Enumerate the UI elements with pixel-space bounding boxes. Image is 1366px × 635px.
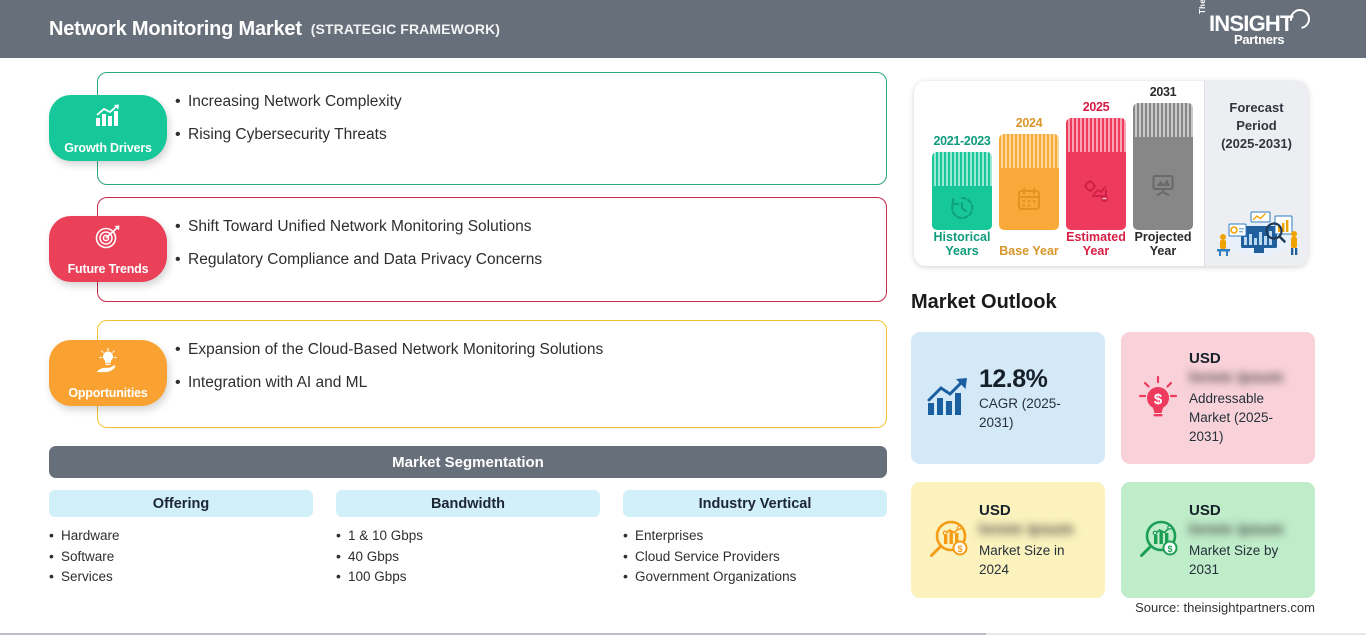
panel-opportunities: Expansion of the Cloud-Based Network Mon… xyxy=(97,320,887,428)
badge-growth-drivers: Growth Drivers xyxy=(49,95,167,161)
card-label: Addressable Market (2025-2031) xyxy=(1189,389,1305,446)
timeline-year-label: 2031 xyxy=(1131,85,1195,99)
timeline-bar xyxy=(999,134,1059,230)
timeline-caption: Historical Years xyxy=(924,230,1000,258)
badge-future-trends: Future Trends xyxy=(49,216,167,282)
outlook-card-market-size-2024: $ USD lorem ipsum Market Size in 2024 xyxy=(911,482,1105,598)
timeline-caption: Estimated Year xyxy=(1058,230,1134,258)
insight-partners-logo: The INSIGHT Partners xyxy=(1198,9,1308,51)
list-item: 1 & 10 Gbps xyxy=(336,526,600,547)
source-attribution: Source: theinsightpartners.com xyxy=(1135,600,1315,615)
segment-column-industry-vertical: Industry Vertical Enterprises Cloud Serv… xyxy=(623,490,887,588)
market-outlook-title: Market Outlook xyxy=(911,291,1057,314)
forecast-chart-icon xyxy=(1081,176,1111,206)
segment-column-offering: Offering Hardware Software Services xyxy=(49,490,313,588)
timeline-item-projected: 2031 Projected Ye xyxy=(1131,90,1195,258)
badge-label: Growth Drivers xyxy=(64,141,152,155)
infographic-page: Network Monitoring Market (STRATEGIC FRA… xyxy=(0,0,1366,635)
page-header: Network Monitoring Market (STRATEGIC FRA… xyxy=(0,0,1366,58)
outlook-card-cagr: 12.8% CAGR (2025-2031) xyxy=(911,332,1105,464)
bar-chart-arrow-icon xyxy=(921,376,975,420)
magnifier-chart-icon: $ xyxy=(1131,517,1185,563)
redacted-value: lorem ipsum xyxy=(1189,521,1305,538)
panel-growth-drivers: Increasing Network Complexity Rising Cyb… xyxy=(97,72,887,185)
market-timeline-chart: 2021-2023 Historical Years xyxy=(914,81,1308,266)
timeline-caption: Projected Year xyxy=(1125,230,1201,258)
bar-stripe-top xyxy=(932,152,992,186)
bullet-list-opportunities: Expansion of the Cloud-Based Network Mon… xyxy=(98,321,886,392)
timeline-bar xyxy=(1133,103,1193,230)
redacted-value: lorem ipsum xyxy=(1189,369,1305,386)
list-item: Services xyxy=(49,567,313,588)
bar-solid-body xyxy=(999,168,1059,230)
segment-items: Enterprises Cloud Service Providers Gove… xyxy=(623,526,887,588)
lightbulb-dollar-icon: $ xyxy=(1131,374,1185,422)
page-title: Network Monitoring Market xyxy=(49,18,302,41)
outlook-card-market-size-2031: $ USD lorem ipsum Market Size by 2031 xyxy=(1121,482,1315,598)
timeline-bar xyxy=(1066,118,1126,230)
segment-items: 1 & 10 Gbps 40 Gbps 100 Gbps xyxy=(336,526,600,588)
bar-stripe-top xyxy=(999,134,1059,168)
forecast-label-line2: Period xyxy=(1205,117,1308,135)
magnifier-chart-icon: $ xyxy=(921,517,975,563)
timeline-caption: Base Year xyxy=(991,244,1067,258)
page-subtitle: (STRATEGIC FRAMEWORK) xyxy=(311,21,500,37)
bullet-list-future-trends: Shift Toward Unified Network Monitoring … xyxy=(98,198,886,269)
panel-future-trends: Shift Toward Unified Network Monitoring … xyxy=(97,197,887,302)
target-dart-icon xyxy=(93,224,123,250)
timeline-item-historical: 2021-2023 Historical Years xyxy=(930,90,994,258)
svg-text:$: $ xyxy=(957,544,962,554)
timeline-bars: 2021-2023 Historical Years xyxy=(914,81,1204,266)
outlook-card-addressable-market: $ USD lorem ipsum Addressable Market (20… xyxy=(1121,332,1315,464)
segment-column-bandwidth: Bandwidth 1 & 10 Gbps 40 Gbps 100 Gbps xyxy=(336,490,600,588)
bar-solid-body xyxy=(1133,137,1193,230)
bar-solid-body xyxy=(932,186,992,230)
usd-label: USD xyxy=(979,502,1095,519)
redacted-value: lorem ipsum xyxy=(979,521,1095,538)
list-item: Expansion of the Cloud-Based Network Mon… xyxy=(188,341,886,360)
bar-stripe-top xyxy=(1133,103,1193,137)
list-item: Cloud Service Providers xyxy=(623,547,887,568)
badge-label: Future Trends xyxy=(68,262,149,276)
list-item: Rising Cybersecurity Threats xyxy=(188,126,886,145)
forecast-label-line1: Forecast xyxy=(1205,99,1308,117)
list-item: 100 Gbps xyxy=(336,567,600,588)
badge-label: Opportunities xyxy=(68,386,147,400)
list-item: Hardware xyxy=(49,526,313,547)
svg-text:$: $ xyxy=(1167,544,1172,554)
list-item: 40 Gbps xyxy=(336,547,600,568)
card-label: Market Size by 2031 xyxy=(1189,541,1305,579)
timeline-bar xyxy=(932,152,992,230)
svg-text:$: $ xyxy=(1154,391,1163,408)
list-item: Integration with AI and ML xyxy=(188,374,886,393)
bar-stripe-top xyxy=(1066,118,1126,152)
card-label: Market Size in 2024 xyxy=(979,541,1095,579)
clock-history-icon xyxy=(947,193,977,223)
timeline-year-label: 2025 xyxy=(1064,100,1128,114)
usd-label: USD xyxy=(1189,502,1305,519)
list-item: Software xyxy=(49,547,313,568)
list-item: Government Organizations xyxy=(623,567,887,588)
segment-title: Offering xyxy=(49,490,313,517)
cagr-label: CAGR (2025-2031) xyxy=(979,394,1095,432)
forecast-period-text: Forecast Period (2025-2031) xyxy=(1205,99,1308,153)
bullet-list-growth-drivers: Increasing Network Complexity Rising Cyb… xyxy=(98,73,886,144)
list-item: Shift Toward Unified Network Monitoring … xyxy=(188,218,886,237)
timeline-year-label: 2021-2023 xyxy=(930,134,994,148)
bar-chart-growth-icon xyxy=(93,103,123,129)
cagr-value: 12.8% xyxy=(979,365,1095,394)
timeline-year-label: 2024 xyxy=(997,116,1061,130)
badge-opportunities: Opportunities xyxy=(49,340,167,406)
list-item: Increasing Network Complexity xyxy=(188,93,886,112)
bar-solid-body xyxy=(1066,152,1126,230)
timeline-item-estimated: 2025 xyxy=(1064,90,1128,258)
logo-the-text: The xyxy=(1198,0,1207,14)
lightbulb-hand-icon xyxy=(93,348,123,374)
segment-title: Industry Vertical xyxy=(623,490,887,517)
forecast-period-panel: Forecast Period (2025-2031) xyxy=(1204,81,1308,266)
timeline-item-base: 2024 xyxy=(997,90,1061,258)
list-item: Regulatory Compliance and Data Privacy C… xyxy=(188,251,886,270)
segment-items: Hardware Software Services xyxy=(49,526,313,588)
usd-label: USD xyxy=(1189,350,1305,367)
logo-partners-text: Partners xyxy=(1234,32,1284,47)
forecast-range: (2025-2031) xyxy=(1205,135,1308,153)
list-item: Enterprises xyxy=(623,526,887,547)
segment-title: Bandwidth xyxy=(336,490,600,517)
projection-screen-icon xyxy=(1148,169,1178,199)
calendar-icon xyxy=(1014,184,1044,214)
market-segmentation-header: Market Segmentation xyxy=(49,446,887,478)
data-analysis-illustration-icon xyxy=(1211,204,1303,258)
